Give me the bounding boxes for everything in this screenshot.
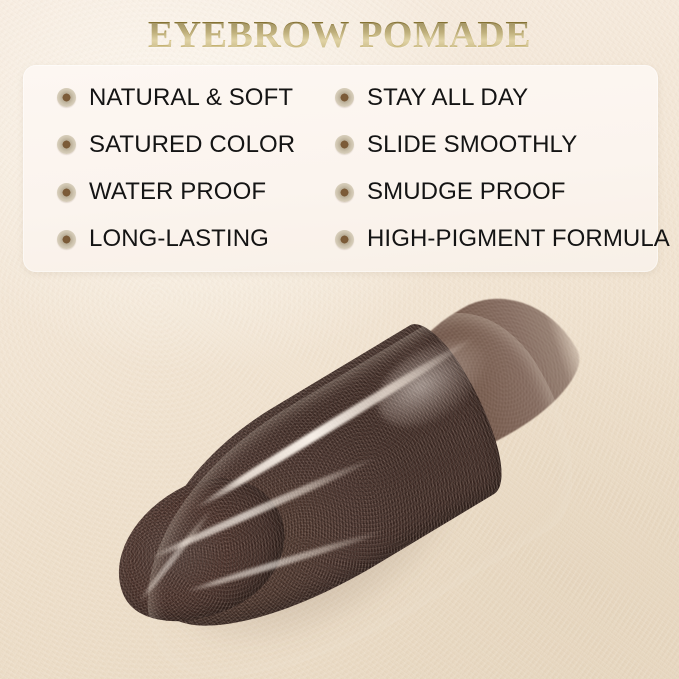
- feature-item-satured-color: SATURED COLOR: [23, 121, 323, 168]
- page-title: EYEBROW POMADE: [148, 12, 531, 58]
- eyebrow-pomade-smear: [20, 290, 600, 670]
- feature-item-slide-smoothly: SLIDE SMOOTHLY: [323, 121, 670, 168]
- feature-card: NATURAL & SOFT STAY ALL DAY SATURED COLO…: [23, 65, 658, 272]
- product-swatch-area: [0, 272, 679, 679]
- bullet-dot-icon: [335, 88, 354, 107]
- feature-item-smudge-proof: SMUDGE PROOF: [323, 169, 670, 216]
- bullet-dot-icon: [335, 135, 354, 154]
- feature-label: WATER PROOF: [89, 179, 266, 205]
- bullet-dot-icon: [57, 230, 76, 249]
- bullet-dot-icon: [335, 183, 354, 202]
- feature-item-water-proof: WATER PROOF: [23, 169, 323, 216]
- feature-label: HIGH-PIGMENT FORMULA: [367, 226, 670, 252]
- bullet-dot-icon: [57, 88, 76, 107]
- bullet-dot-icon: [57, 183, 76, 202]
- product-poster: EYEBROW POMADE NATURAL & SOFT STAY ALL D…: [0, 0, 679, 679]
- feature-item-stay-all-day: STAY ALL DAY: [323, 74, 670, 121]
- feature-label: SMUDGE PROOF: [367, 179, 566, 205]
- feature-label: SLIDE SMOOTHLY: [367, 132, 577, 158]
- feature-label: STAY ALL DAY: [367, 85, 528, 111]
- feature-item-long-lasting: LONG-LASTING: [23, 216, 323, 263]
- bullet-dot-icon: [335, 230, 354, 249]
- bullet-dot-icon: [57, 135, 76, 154]
- feature-label: SATURED COLOR: [89, 132, 295, 158]
- feature-item-high-pigment-formula: HIGH-PIGMENT FORMULA: [323, 216, 670, 263]
- feature-label: NATURAL & SOFT: [89, 85, 293, 111]
- feature-list: NATURAL & SOFT STAY ALL DAY SATURED COLO…: [23, 65, 658, 272]
- feature-item-natural-soft: NATURAL & SOFT: [23, 74, 323, 121]
- title-container: EYEBROW POMADE: [0, 12, 679, 58]
- feature-label: LONG-LASTING: [89, 226, 269, 252]
